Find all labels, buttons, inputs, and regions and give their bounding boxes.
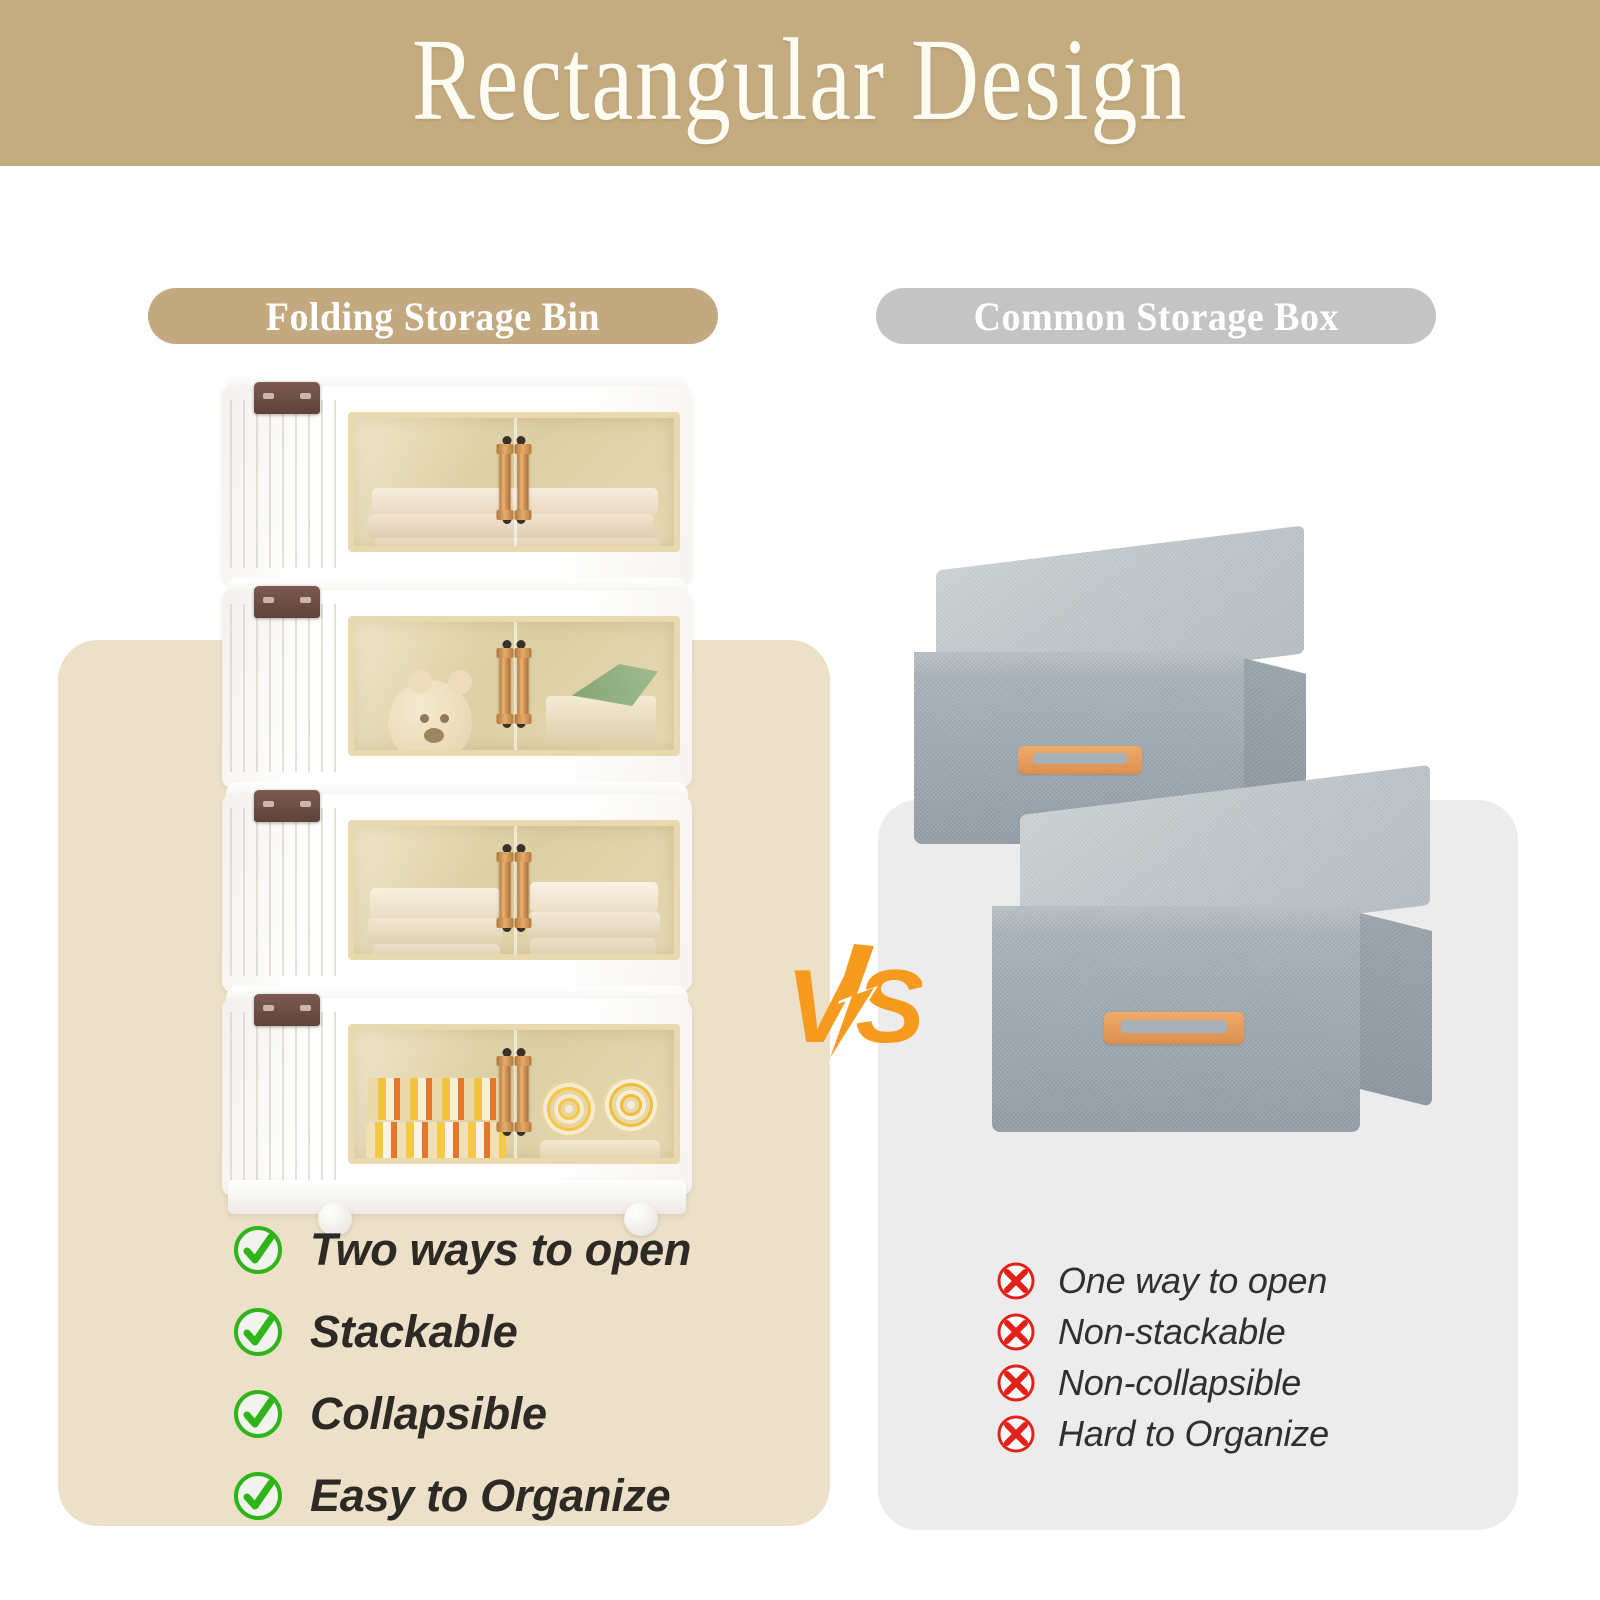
common-box-feature-list: One way to open Non-stackable Non-collap… [996,1256,1436,1460]
box-side-lower [1360,913,1432,1107]
list-item: Non-stackable [996,1307,1436,1357]
list-item: Easy to Organize [232,1462,792,1530]
cross-circle-icon [996,1261,1036,1301]
feature-label: Stackable [310,1306,517,1358]
leather-pull-tab-2 [254,586,320,618]
check-circle-icon [232,1306,284,1358]
door-handle-left-2[interactable] [500,650,511,722]
feature-label: Non-collapsible [1058,1362,1301,1404]
leather-pull-tab-4 [254,994,320,1026]
check-circle-icon [232,1224,284,1276]
door-handle-right-4[interactable] [518,1058,529,1130]
list-item: Stackable [232,1298,792,1366]
storage-bin-tier-2 [222,590,692,788]
section-label-common-storage-box: Common Storage Box [876,288,1436,344]
feature-label: Non-stackable [1058,1311,1286,1353]
storage-bin-tier-1 [222,386,692,584]
folding-bin-feature-list: Two ways to open Stackable Collapsible E… [232,1216,792,1544]
door-handle-right-1[interactable] [518,446,529,518]
vs-badge: VS [782,938,922,1068]
list-item: One way to open [996,1256,1436,1306]
door-handles-3[interactable] [500,854,529,926]
door-handle-left-1[interactable] [500,446,511,518]
bin-side-fluting-3 [230,808,340,976]
box-handle-upper[interactable] [1018,746,1142,774]
cross-circle-icon [996,1414,1036,1454]
door-handle-left-3[interactable] [500,854,511,926]
bin-door-window-4 [348,1024,680,1164]
section-label-folding-storage-bin: Folding Storage Bin [148,288,718,344]
page-title: Rectangular Design [412,21,1188,139]
feature-label: Easy to Organize [310,1470,670,1522]
common-storage-box-lower [986,790,1456,1140]
list-item: Collapsible [232,1380,792,1448]
bin-side-fluting-2 [230,604,340,772]
door-handles-4[interactable] [500,1058,529,1130]
door-handle-right-2[interactable] [518,650,529,722]
bin-door-window-2 [348,616,680,756]
check-circle-icon [232,1470,284,1522]
cross-circle-icon [996,1312,1036,1352]
section-label-left-text: Folding Storage Bin [266,293,600,340]
bin-side-fluting-4 [230,1012,340,1180]
bin-base-rail [228,1180,686,1214]
section-label-right-text: Common Storage Box [973,293,1338,340]
folding-storage-bin-product-image [222,378,692,1208]
check-circle-icon [232,1388,284,1440]
box-handle-lower[interactable] [1104,1012,1244,1044]
bin-door-window-1 [348,412,680,552]
list-item: Hard to Organize [996,1409,1436,1459]
vs-icon: VS [782,938,922,1068]
storage-bin-tier-4 [222,998,692,1196]
door-handles-2[interactable] [500,650,529,722]
feature-label: Collapsible [310,1388,547,1440]
storage-bin-tier-3 [222,794,692,992]
door-handles-1[interactable] [500,446,529,518]
list-item: Non-collapsible [996,1358,1436,1408]
door-handle-right-3[interactable] [518,854,529,926]
header-banner: Rectangular Design [0,0,1600,166]
bin-side-fluting-1 [230,400,340,568]
leather-pull-tab-3 [254,790,320,822]
list-item: Two ways to open [232,1216,792,1284]
leather-pull-tab-1 [254,382,320,414]
door-handle-left-4[interactable] [500,1058,511,1130]
cross-circle-icon [996,1363,1036,1403]
feature-label: Two ways to open [310,1224,691,1276]
feature-label: Hard to Organize [1058,1413,1329,1455]
bin-door-window-3 [348,820,680,960]
feature-label: One way to open [1058,1260,1327,1302]
